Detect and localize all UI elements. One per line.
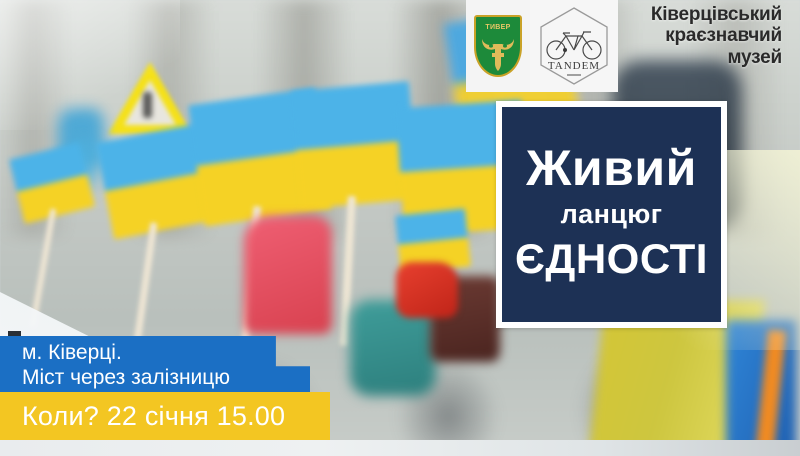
date-banner-text: Коли? 22 січня 15.00 xyxy=(22,401,285,432)
pink-coat-blur xyxy=(244,216,332,334)
location-banner: м. Ківерці. Міст через залізницю xyxy=(0,336,310,397)
museum-name: Ківерцівський краєзнавчий музей xyxy=(626,0,782,68)
logo-bar: ТИВЕР xyxy=(466,0,782,92)
event-title-card-inner: Живий ланцюг ЄДНОСТІ xyxy=(502,107,721,322)
museum-name-line-1: Ківерцівський xyxy=(626,4,782,25)
bottom-edge-strip xyxy=(0,440,800,456)
event-title-line-3: ЄДНОСТІ xyxy=(515,235,708,282)
tandem-bicycle-icon: TANDEM xyxy=(537,6,611,86)
date-banner: Коли? 22 січня 15.00 xyxy=(0,392,330,440)
coat-of-arms-logo: ТИВЕР xyxy=(466,0,530,92)
red-glove-blur xyxy=(396,262,458,318)
event-title-line-1: Живий xyxy=(526,143,697,194)
tandem-logo: TANDEM xyxy=(530,0,618,92)
museum-name-line-2: краєзнавчий xyxy=(626,25,782,46)
location-line-2: Міст через залізницю xyxy=(22,366,298,391)
event-title-card: Живий ланцюг ЄДНОСТІ xyxy=(496,101,727,328)
hexagon-frame-icon: TANDEM xyxy=(537,6,611,86)
poster-canvas: ТИВЕР xyxy=(0,0,800,456)
location-line-1: м. Ківерці. xyxy=(22,341,298,366)
crest-inscription: ТИВЕР xyxy=(476,24,520,31)
event-title-line-2: ланцюг xyxy=(561,196,663,234)
white-overlay-top-left xyxy=(0,0,180,130)
svg-text:TANDEM: TANDEM xyxy=(548,60,600,72)
tyver-shield-icon: ТИВЕР xyxy=(474,15,522,77)
bull-head-icon xyxy=(478,33,518,73)
museum-name-line-3: музей xyxy=(626,47,782,68)
